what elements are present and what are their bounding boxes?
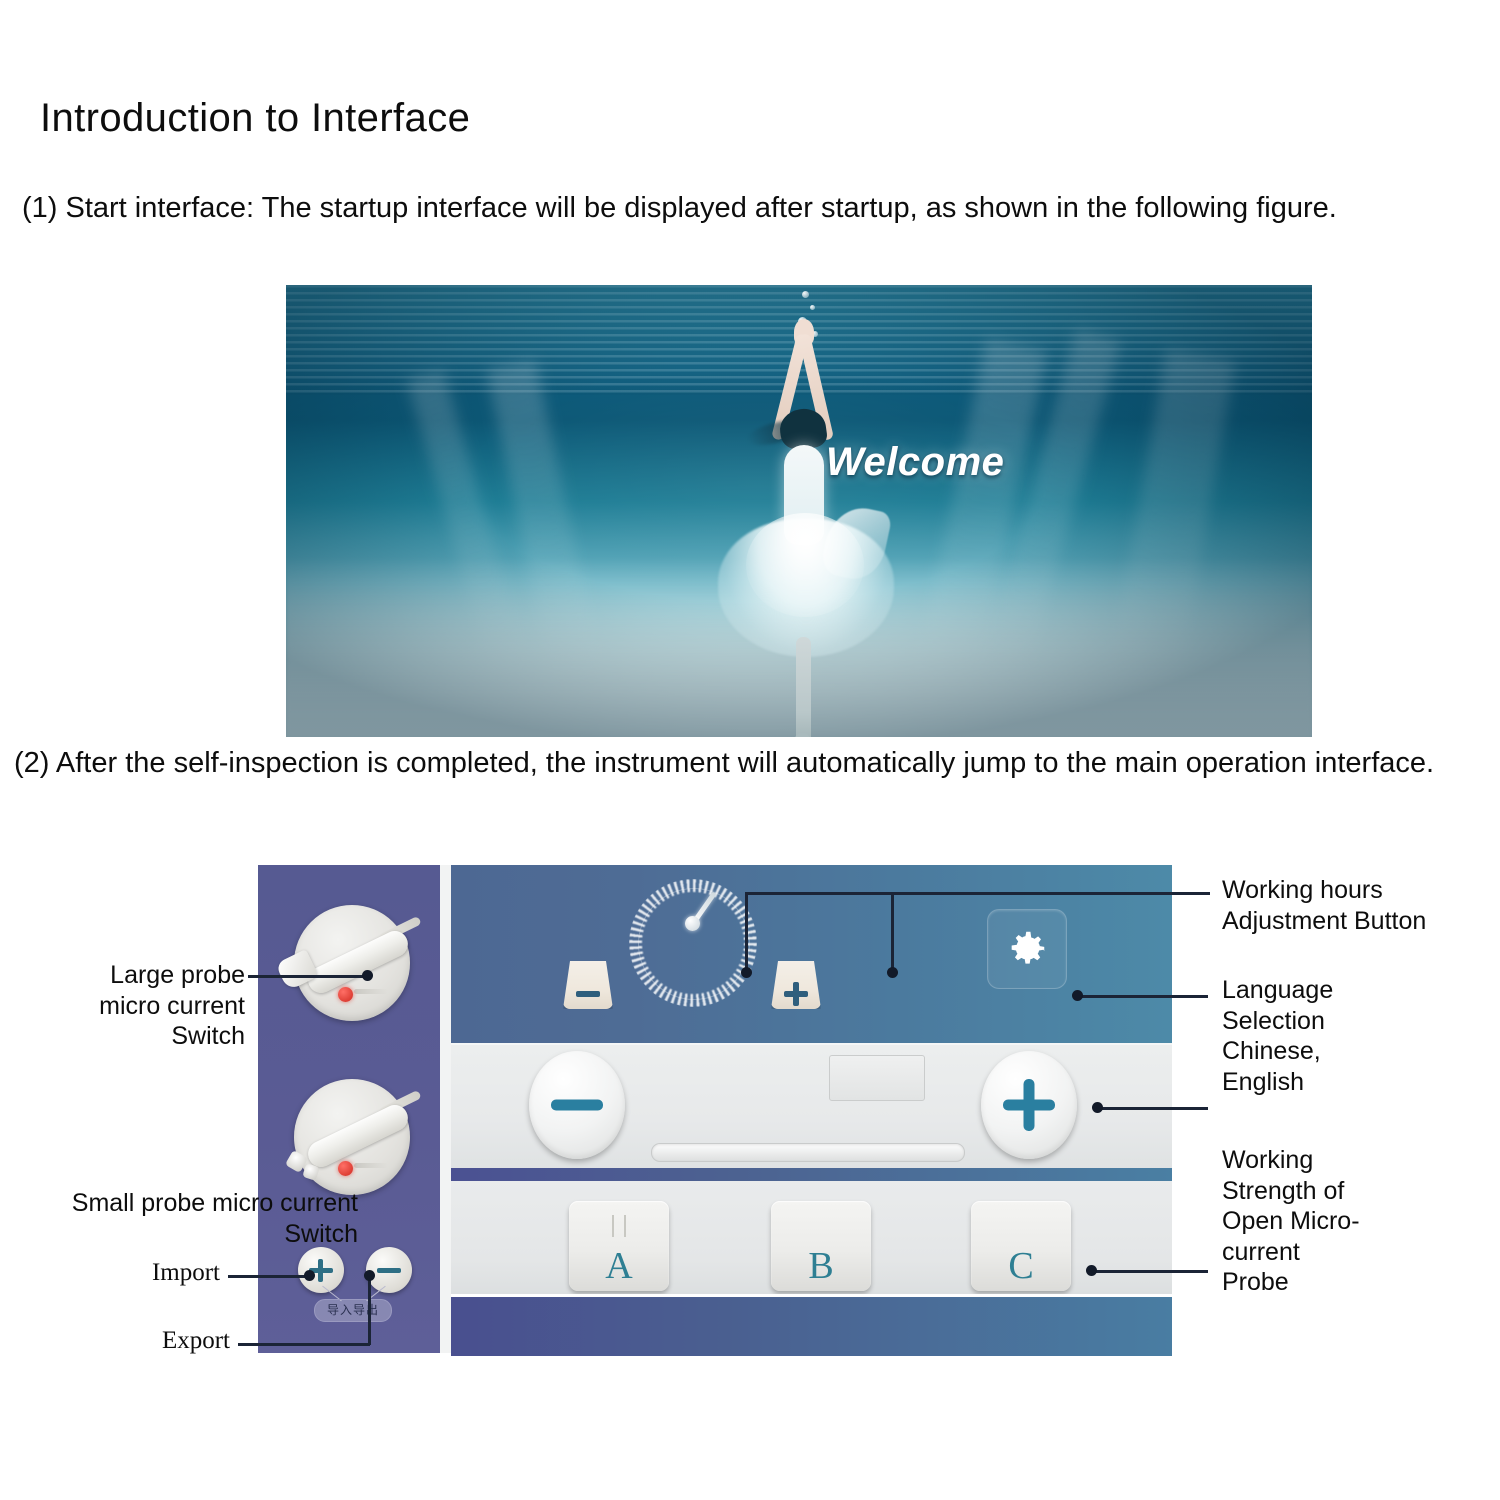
mode-button-c[interactable]: C [971,1201,1071,1291]
probe-led-indicator [338,1161,353,1176]
paragraph-start-interface: (1) Start interface: The startup interfa… [22,190,1500,227]
leader-line-export [238,1343,370,1346]
leader-line-wh-plus-vertical [891,892,894,972]
probe-stripe [354,1163,388,1168]
leader-dot-language [1072,990,1083,1001]
probe-stripe [354,989,388,994]
plus-icon-vertical [793,982,799,1006]
strength-increase-button[interactable] [981,1051,1077,1159]
small-probe-micro-current-switch[interactable] [294,1079,410,1195]
callout-large-probe: Large probe micro current Switch [30,960,245,1052]
gear-icon [1004,926,1050,972]
callout-small-probe: Small probe micro current Switch [18,1188,358,1249]
leader-line-working-hours [745,892,1210,895]
leader-dot-import [304,1270,315,1281]
callout-working-hours: Working hours Adjustment Button [1222,875,1492,936]
leader-dot-export [364,1270,375,1281]
leader-line-large-probe [248,975,368,978]
probe-wand-icon [304,927,412,998]
ballerina-figure [684,337,924,737]
plus-icon-vertical [318,1259,323,1282]
leader-dot-probe-row [1086,1265,1097,1276]
leader-line-import [228,1275,310,1278]
minus-icon [576,991,600,997]
probe-plug-icon-2 [302,1163,320,1181]
callout-import: Import [60,1258,220,1289]
device-footer-bar [451,1294,1172,1356]
leader-dot-large-probe [362,970,373,981]
device-main-area: A B C [451,865,1172,1353]
tutu-skirt-inner [746,513,864,617]
page-title: Introduction to Interface [40,96,470,141]
strength-decrease-button[interactable] [529,1051,625,1159]
mode-button-b[interactable]: B [771,1201,871,1291]
probe-led-indicator [338,987,353,1002]
startup-splash-screenshot: Welcome [286,285,1312,737]
minus-icon [551,1100,603,1111]
probe-wand-icon [304,1101,412,1172]
minus-icon [377,1268,401,1273]
strength-slider-track[interactable] [651,1143,965,1162]
mode-button-a[interactable]: A [569,1201,669,1291]
panel-divider [451,1168,1172,1181]
main-operation-interface-screenshot: 导入导出 [258,865,1172,1353]
dial-inner-ring [638,888,750,1000]
leader-line-language [1078,995,1208,998]
dial-hub [685,916,700,931]
leader-line-export-vertical [368,1274,371,1345]
working-hours-decrease-button[interactable] [563,961,613,1009]
sidebar-divider [440,865,451,1353]
leader-line-probe-row [1092,1270,1208,1273]
strength-value-display [829,1055,925,1101]
working-hours-increase-button[interactable] [771,961,821,1009]
callout-export: Export [60,1326,230,1357]
leg [796,637,811,737]
leader-dot-wh-minus [741,967,752,978]
paragraph-self-inspection: (2) After the self-inspection is complet… [14,745,1500,782]
mode-button-c-label: C [1008,1245,1033,1287]
callout-language-selection: Language Selection Chinese, English [1222,975,1482,1097]
leader-dot-strength [1092,1102,1103,1113]
language-selection-button[interactable] [987,909,1067,989]
mode-button-b-label: B [808,1245,833,1287]
plus-icon-vertical [1024,1079,1035,1131]
device-sidebar: 导入导出 [258,865,440,1353]
leader-line-wh-minus-vertical [745,892,748,972]
callout-working-strength: Working Strength of Open Micro- current … [1222,1145,1487,1298]
leader-dot-wh-plus [887,967,898,978]
mode-button-a-label: A [605,1245,632,1287]
export-button[interactable] [366,1247,412,1293]
welcome-label: Welcome [826,440,1004,485]
import-export-label: 导入导出 [314,1299,392,1322]
large-probe-micro-current-switch[interactable] [294,905,410,1021]
working-hours-dial[interactable] [629,879,757,1007]
probe-prong-icon [609,1215,629,1237]
leader-line-strength [1098,1107,1208,1110]
